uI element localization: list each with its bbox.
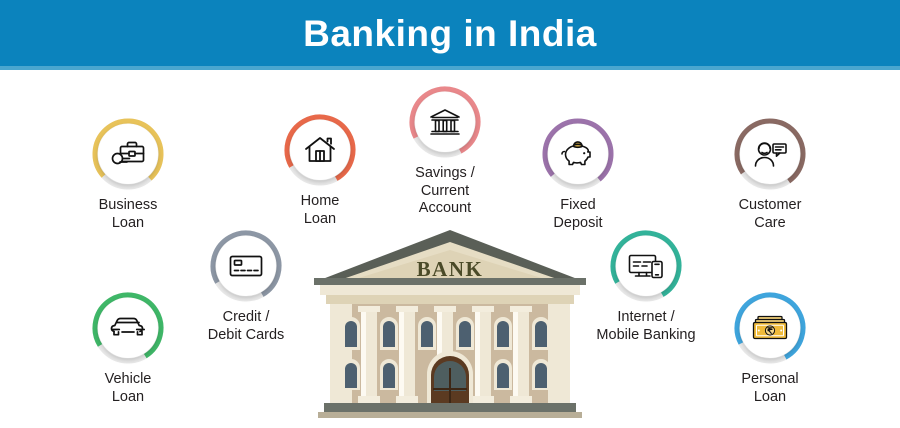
entablature-top	[314, 278, 586, 285]
icon-disc-personal-loan	[740, 298, 800, 358]
payment-card-icon	[228, 252, 264, 280]
service-label-credit-debit-cards: Credit / Debit Cards	[208, 309, 285, 344]
building-base-lower	[318, 412, 582, 418]
icon-disc-customer-care	[740, 124, 800, 184]
house-icon	[303, 134, 337, 166]
icon-ring-customer-care	[734, 118, 806, 190]
icon-disc-home-loan	[290, 120, 350, 180]
wall-right-pilaster	[548, 304, 570, 403]
header-underline	[0, 66, 900, 70]
service-node-vehicle-loan[interactable]: Vehicle Loan	[53, 292, 203, 406]
bank-sign-text: BANK	[417, 257, 484, 281]
service-node-fixed-deposit[interactable]: Fixed Deposit	[503, 118, 653, 232]
service-label-home-loan: Home Loan	[301, 193, 340, 228]
page-title: Banking in India	[303, 15, 597, 52]
entablature-low	[326, 295, 574, 304]
support-agent-icon	[752, 138, 788, 170]
bank-columns-icon	[428, 106, 462, 138]
service-label-savings-current-account: Savings / Current Account	[415, 165, 475, 218]
service-label-internet-mobile-banking: Internet / Mobile Banking	[596, 309, 695, 344]
icon-ring-business-loan	[92, 118, 164, 190]
service-label-business-loan: Business Loan	[99, 197, 158, 232]
piggy-bank-icon	[560, 139, 596, 169]
header-bar: Banking in India	[0, 0, 900, 66]
icon-ring-fixed-deposit	[542, 118, 614, 190]
service-node-business-loan[interactable]: Business Loan	[53, 118, 203, 232]
icon-disc-business-loan	[98, 124, 158, 184]
monitor-phone-icon	[627, 251, 665, 281]
rupee-cash-icon	[751, 313, 789, 343]
icon-ring-vehicle-loan	[92, 292, 164, 364]
icon-disc-fixed-deposit	[548, 124, 608, 184]
service-label-personal-loan: Personal Loan	[741, 371, 798, 406]
entablature-mid	[320, 285, 580, 295]
service-label-customer-care: Customer Care	[739, 197, 802, 232]
service-node-personal-loan[interactable]: Personal Loan	[695, 292, 845, 406]
service-label-vehicle-loan: Vehicle Loan	[105, 371, 152, 406]
icon-ring-internet-mobile-banking	[610, 230, 682, 302]
icon-ring-personal-loan	[734, 292, 806, 364]
service-node-savings-current-account[interactable]: Savings / Current Account	[370, 86, 520, 218]
icon-disc-internet-mobile-banking	[616, 236, 676, 296]
car-icon	[109, 314, 147, 342]
icon-disc-savings-current-account	[415, 92, 475, 152]
briefcase-money-icon	[110, 138, 146, 170]
bank-building: BANK	[312, 228, 588, 425]
icon-disc-credit-debit-cards	[216, 236, 276, 296]
icon-ring-credit-debit-cards	[210, 230, 282, 302]
building-base-upper	[324, 403, 576, 412]
service-node-customer-care[interactable]: Customer Care	[695, 118, 845, 232]
icon-ring-savings-current-account	[409, 86, 481, 158]
icon-ring-home-loan	[284, 114, 356, 186]
entrance-door	[427, 351, 473, 410]
icon-disc-vehicle-loan	[98, 298, 158, 358]
infographic-canvas: Banking in India Business Loan Home Loan	[0, 0, 900, 428]
